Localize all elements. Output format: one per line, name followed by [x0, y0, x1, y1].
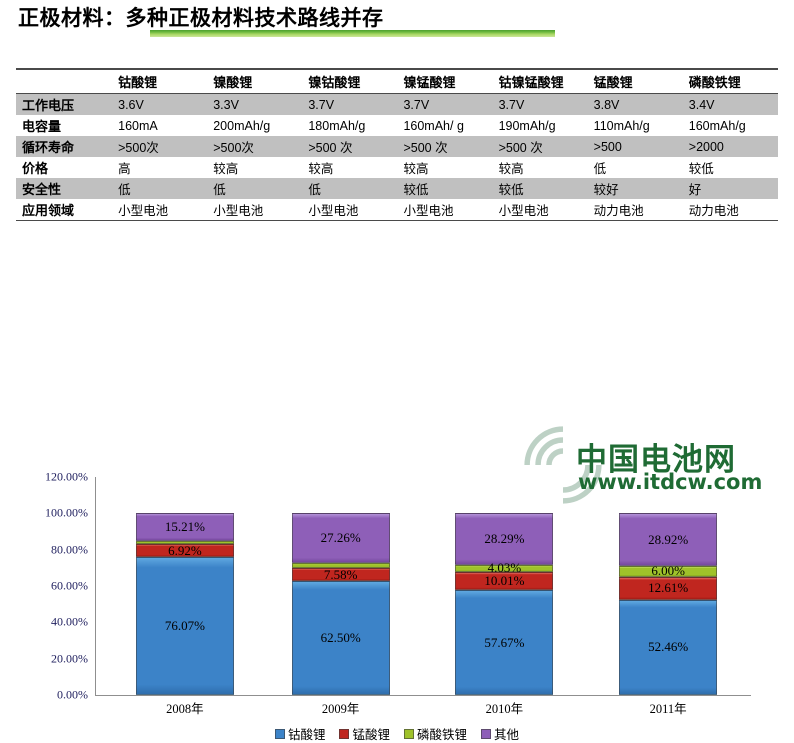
bar-segment[interactable]: 15.21% [136, 513, 234, 541]
table-cell: 较高 [302, 157, 397, 178]
table-cell: 低 [302, 178, 397, 199]
table-cell: 较高 [207, 157, 302, 178]
bar-group[interactable]: 28.29%4.03%10.01%57.67% [455, 513, 553, 695]
table-cell: 3.3V [207, 94, 302, 116]
table-cell: 小型电池 [493, 199, 588, 221]
bar-group[interactable]: 28.92%6.00%12.61%52.46% [619, 513, 717, 695]
bar-segment-label: 6.00% [651, 563, 685, 579]
table-row-label: 工作电压 [16, 94, 112, 116]
bar-segment-label: 15.21% [165, 519, 205, 535]
table-cell: >500次 [207, 136, 302, 157]
table-cell: 160mA [112, 115, 207, 136]
bar-segment-label: 76.07% [165, 618, 205, 634]
table-row: 工作电压3.6V3.3V3.7V3.7V3.7V3.8V3.4V [16, 94, 778, 116]
y-axis-tick-label: 120.00% [8, 470, 88, 485]
table-cell: 好 [683, 178, 778, 199]
table-cell: >2000 [683, 136, 778, 157]
bar-group[interactable]: 15.21%6.92%76.07% [136, 513, 234, 695]
table-cell: 180mAh/g [302, 115, 397, 136]
table-cell: 小型电池 [302, 199, 397, 221]
legend-label: 钴酸锂 [288, 724, 326, 743]
x-axis-tick-label: 2008年 [103, 698, 267, 717]
y-axis-tick-label: 40.00% [8, 615, 88, 630]
table-cell: 较高 [397, 157, 492, 178]
table-row-label: 价格 [16, 157, 112, 178]
table-row: 循环寿命>500次>500次>500 次>500 次>500 次>500>200… [16, 136, 778, 157]
table-col-header-0 [16, 69, 112, 94]
table-row: 应用领域小型电池小型电池小型电池小型电池小型电池动力电池动力电池 [16, 199, 778, 221]
cathode-material-comparison-table: 钴酸锂 镍酸锂 镍钴酸锂 镍锰酸锂 钴镍锰酸锂 锰酸锂 磷酸铁锂 工作电压3.6… [16, 68, 778, 221]
chart-legend: 钴酸锂锰酸锂磷酸铁锂其他 [0, 724, 794, 743]
legend-swatch-icon [275, 729, 285, 739]
table-cell: 较低 [397, 178, 492, 199]
table-cell: 110mAh/g [588, 115, 683, 136]
legend-swatch-icon [404, 729, 414, 739]
table-cell: 小型电池 [112, 199, 207, 221]
table-cell: 3.4V [683, 94, 778, 116]
bar-segment-label: 10.01% [484, 573, 524, 589]
table-row-label: 应用领域 [16, 199, 112, 221]
bar-segment[interactable]: 52.46% [619, 600, 717, 695]
table-cell: >500 次 [397, 136, 492, 157]
bar-segment[interactable]: 7.58% [292, 568, 390, 582]
legend-swatch-icon [339, 729, 349, 739]
table-col-header-6: 锰酸锂 [588, 69, 683, 94]
table-col-header-4: 镍锰酸锂 [397, 69, 492, 94]
bar-segment[interactable]: 27.26% [292, 513, 390, 563]
table-row: 电容量160mA200mAh/g180mAh/g160mAh/ g190mAh/… [16, 115, 778, 136]
y-axis-tick-label: 0.00% [8, 688, 88, 703]
table-cell: 3.7V [302, 94, 397, 116]
table-cell: 低 [207, 178, 302, 199]
y-axis-tick-label: 20.00% [8, 651, 88, 666]
x-axis-tick-label: 2009年 [259, 698, 423, 717]
y-axis-tick-label: 60.00% [8, 579, 88, 594]
table-col-header-7: 磷酸铁锂 [683, 69, 778, 94]
table-cell: 小型电池 [207, 199, 302, 221]
bar-segment-label: 27.26% [321, 530, 361, 546]
chart-y-axis: 0.00%20.00%40.00%60.00%80.00%100.00%120.… [8, 470, 88, 700]
table-cell: 动力电池 [588, 199, 683, 221]
bar-segment[interactable]: 28.92% [619, 513, 717, 566]
table-cell: 动力电池 [683, 199, 778, 221]
table-row: 安全性低低低较低较低较好好 [16, 178, 778, 199]
chart-bars-layer: 15.21%6.92%76.07%27.26%7.58%62.50%28.29%… [95, 477, 750, 695]
table-row: 价格高较高较高较高较高低较低 [16, 157, 778, 178]
table-cell: 3.8V [588, 94, 683, 116]
legend-item[interactable]: 锰酸锂 [339, 724, 390, 743]
table-col-header-1: 钴酸锂 [112, 69, 207, 94]
table-row-label: 电容量 [16, 115, 112, 136]
table-cell: 160mAh/g [683, 115, 778, 136]
table-cell: 200mAh/g [207, 115, 302, 136]
table-row-label: 安全性 [16, 178, 112, 199]
legend-label: 其他 [494, 724, 519, 743]
y-axis-tick-label: 80.00% [8, 542, 88, 557]
table-col-header-2: 镍酸锂 [207, 69, 302, 94]
bar-segment-label: 28.92% [648, 532, 688, 548]
legend-label: 磷酸铁锂 [417, 724, 467, 743]
table-cell: 高 [112, 157, 207, 178]
table-cell: 较高 [493, 157, 588, 178]
title-underline-bar [150, 30, 555, 37]
bar-segment[interactable]: 6.00% [619, 566, 717, 577]
bar-segment-label: 28.29% [484, 531, 524, 547]
table-cell: 较低 [683, 157, 778, 178]
x-axis-tick-label: 2011年 [586, 698, 750, 717]
page-title-text: 正极材料：多种正极材料技术路线并存 [18, 4, 778, 32]
table-col-header-5: 钴镍锰酸锂 [493, 69, 588, 94]
bar-segment[interactable]: 10.01% [455, 572, 553, 590]
table-cell: 160mAh/ g [397, 115, 492, 136]
table-cell: 较好 [588, 178, 683, 199]
table-cell: >500次 [112, 136, 207, 157]
bar-segment[interactable]: 6.92% [136, 544, 234, 557]
legend-item[interactable]: 磷酸铁锂 [404, 724, 467, 743]
table-cell: 低 [112, 178, 207, 199]
bar-segment[interactable]: 76.07% [136, 557, 234, 695]
table-row-label: 循环寿命 [16, 136, 112, 157]
legend-item[interactable]: 钴酸锂 [275, 724, 326, 743]
table-header-row: 钴酸锂 镍酸锂 镍钴酸锂 镍锰酸锂 钴镍锰酸锂 锰酸锂 磷酸铁锂 [16, 69, 778, 94]
bar-segment-label: 7.58% [324, 567, 358, 583]
table-col-header-3: 镍钴酸锂 [302, 69, 397, 94]
bar-segment[interactable]: 57.67% [455, 590, 553, 695]
table-cell: 3.7V [493, 94, 588, 116]
bar-segment[interactable]: 28.29% [455, 513, 553, 564]
x-axis-tick-label: 2010年 [423, 698, 587, 717]
table-cell: >500 次 [302, 136, 397, 157]
bar-segment-label: 12.61% [648, 580, 688, 596]
table-cell: 较低 [493, 178, 588, 199]
cathode-share-stacked-bar-chart: 0.00%20.00%40.00%60.00%80.00%100.00%120.… [0, 232, 794, 513]
table-cell: 3.6V [112, 94, 207, 116]
bar-segment[interactable]: 4.03% [455, 565, 553, 572]
bar-segment[interactable]: 12.61% [619, 577, 717, 600]
legend-swatch-icon [481, 729, 491, 739]
bar-segment-label: 52.46% [648, 639, 688, 655]
table-cell: >500 次 [493, 136, 588, 157]
page-title: 正极材料：多种正极材料技术路线并存 [18, 4, 778, 44]
bar-segment-label: 57.67% [484, 635, 524, 651]
table-cell: 低 [588, 157, 683, 178]
bar-segment-label: 62.50% [321, 630, 361, 646]
table-cell: 190mAh/g [493, 115, 588, 136]
table-cell: 3.7V [397, 94, 492, 116]
legend-item[interactable]: 其他 [481, 724, 519, 743]
table-cell: >500 [588, 136, 683, 157]
bar-segment-label: 6.92% [168, 543, 202, 559]
chart-x-axis: 2008年2009年2010年2011年 [95, 698, 750, 716]
y-axis-tick-label: 100.00% [8, 506, 88, 521]
bar-segment[interactable]: 62.50% [292, 581, 390, 695]
bar-group[interactable]: 27.26%7.58%62.50% [292, 513, 390, 695]
table-cell: 小型电池 [397, 199, 492, 221]
legend-label: 锰酸锂 [352, 724, 390, 743]
